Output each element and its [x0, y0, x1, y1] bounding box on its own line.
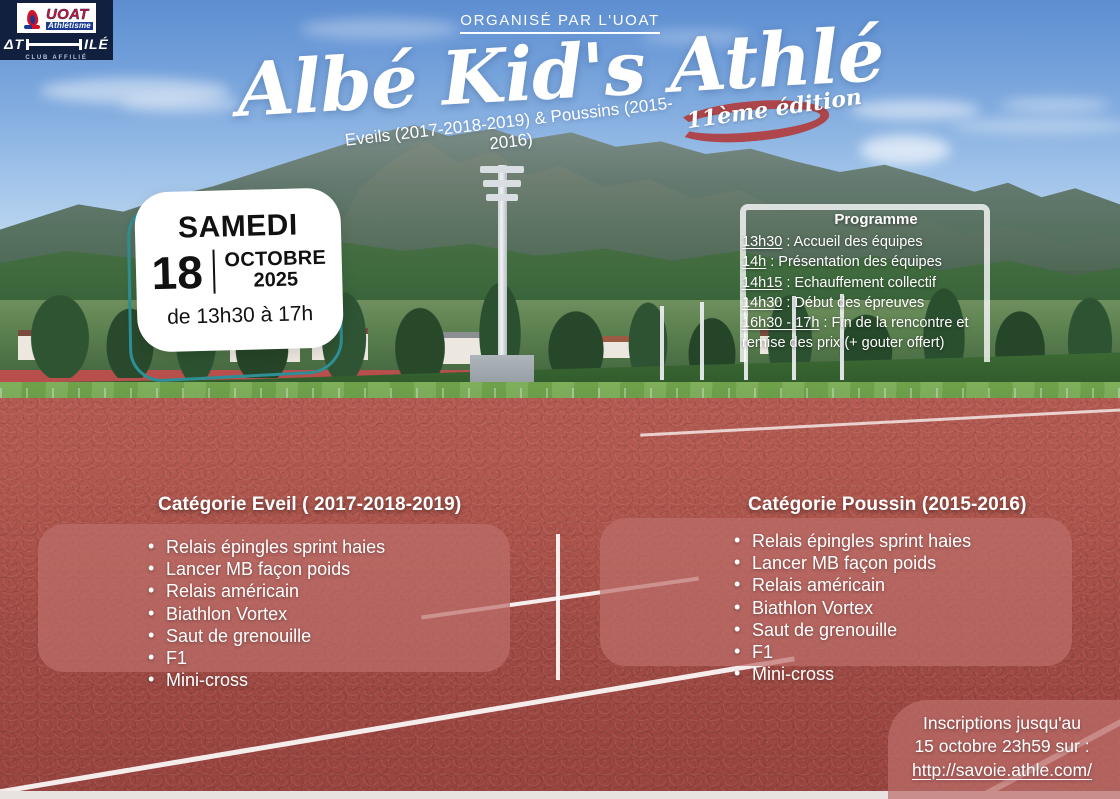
date-day: 18 — [151, 249, 203, 296]
floodlight-lamp-row — [480, 166, 524, 173]
programme-entry-time: 16h30 - 17h — [742, 315, 819, 331]
programme-entry: 14h15 : Echauffement collectif — [742, 274, 1010, 293]
programme-entry-label: : Echauffement collectif — [782, 275, 936, 291]
date-card-panel: SAMEDI 18 OCTOBRE 2025 de 13h30 à 17h — [134, 187, 344, 352]
programme-entry: 14h30 : Début des épreuves — [742, 294, 1010, 313]
programme-entry-list: 13h30 : Accueil des équipes14h : Présent… — [742, 233, 1010, 354]
logo-lockup: UOAT Athlétisme — [17, 3, 96, 33]
programme-entry-label: : Accueil des équipes — [782, 234, 922, 250]
logo-wordmark: UOAT Athlétisme — [46, 7, 93, 30]
category-event-item: Saut de grenouille — [734, 619, 971, 641]
federation-bar-icon — [26, 43, 82, 46]
programme-entry-time: 14h — [742, 254, 766, 270]
date-weekday: SAMEDI — [178, 210, 298, 243]
flame-icon — [20, 5, 44, 31]
federation-label-prefix: ΔT — [4, 36, 24, 52]
date-month-year: OCTOBRE 2025 — [224, 248, 327, 293]
programme-entry: 13h30 : Accueil des équipes — [742, 233, 1010, 252]
date-row: 18 OCTOBRE 2025 — [151, 246, 327, 297]
programme-entry-time: 14h15 — [742, 275, 782, 291]
logo-club-abbrev: UOAT — [46, 7, 89, 22]
stadium-pole — [700, 302, 704, 380]
date-hours: de 13h30 à 17h — [167, 302, 314, 330]
programme-entry-time: 13h30 — [742, 234, 782, 250]
programme-entry-label: : Présentation des équipes — [766, 254, 942, 270]
stadium-pole — [660, 306, 664, 380]
club-logo: UOAT Athlétisme ΔT ILÉ CLUB AFFILIÉ — [0, 0, 113, 60]
date-month: OCTOBRE — [224, 248, 326, 272]
programme-title: Programme — [742, 210, 1010, 230]
registration-line-2: 15 octobre 23h59 sur : — [884, 735, 1120, 758]
federation-label-suffix: ILÉ — [84, 36, 109, 52]
category-event-item: F1 — [148, 647, 385, 669]
category-event-item: Biathlon Vortex — [148, 603, 385, 625]
programme-entry-label: : Fin de la rencontre et — [819, 315, 968, 331]
cloud-icon — [860, 135, 950, 165]
cloud-icon — [950, 118, 1120, 134]
date-card: SAMEDI 18 OCTOBRE 2025 de 13h30 à 17h — [136, 190, 342, 350]
registration-link[interactable]: http://savoie.athle.com/ — [884, 759, 1120, 782]
track-marking — [556, 534, 560, 680]
programme-entry-continuation: remise des prix (+ gouter offert) — [742, 334, 1010, 353]
registration-block: Inscriptions jusqu'au 15 octobre 23h59 s… — [884, 712, 1120, 782]
date-separator — [212, 250, 215, 294]
category-event-item: Lancer MB façon poids — [734, 552, 971, 574]
floodlight-lamp-row — [486, 194, 518, 201]
category-event-item: F1 — [734, 641, 971, 663]
category-event-item: Mini-cross — [734, 663, 971, 685]
registration-line-1: Inscriptions jusqu'au — [884, 712, 1120, 735]
programme-entry-label: : Début des épreuves — [782, 295, 924, 311]
logo-affiliation-text: CLUB AFFILIÉ — [25, 55, 87, 61]
event-poster: UOAT Athlétisme ΔT ILÉ CLUB AFFILIÉ ORGA… — [0, 0, 1120, 799]
category-event-list-poussin: Relais épingles sprint haiesLancer MB fa… — [734, 530, 971, 686]
floodlight-lamp-row — [483, 180, 521, 187]
category-event-item: Biathlon Vortex — [734, 597, 971, 619]
category-event-item: Relais épingles sprint haies — [734, 530, 971, 552]
programme-entry: 16h30 - 17h : Fin de la rencontre et — [742, 314, 1010, 333]
programme-panel: Programme 13h30 : Accueil des équipes14h… — [742, 210, 1010, 355]
programme-entry: 14h : Présentation des équipes — [742, 253, 1010, 272]
federation-lockup: ΔT ILÉ — [4, 36, 109, 52]
category-event-list-eveil: Relais épingles sprint haiesLancer MB fa… — [148, 536, 385, 692]
category-heading-eveil: Catégorie Eveil ( 2017-2018-2019) — [158, 494, 461, 516]
category-event-item: Relais épingles sprint haies — [148, 536, 385, 558]
logo-club-discipline: Athlétisme — [46, 22, 93, 30]
category-event-item: Mini-cross — [148, 669, 385, 691]
category-event-item: Saut de grenouille — [148, 625, 385, 647]
programme-entry-time: 14h30 — [742, 295, 782, 311]
category-event-item: Relais américain — [734, 574, 971, 596]
cloud-icon — [1000, 98, 1110, 112]
category-heading-poussin: Catégorie Poussin (2015-2016) — [748, 494, 1027, 516]
category-event-item: Relais américain — [148, 580, 385, 602]
date-year: 2025 — [253, 269, 298, 291]
category-event-item: Lancer MB façon poids — [148, 558, 385, 580]
